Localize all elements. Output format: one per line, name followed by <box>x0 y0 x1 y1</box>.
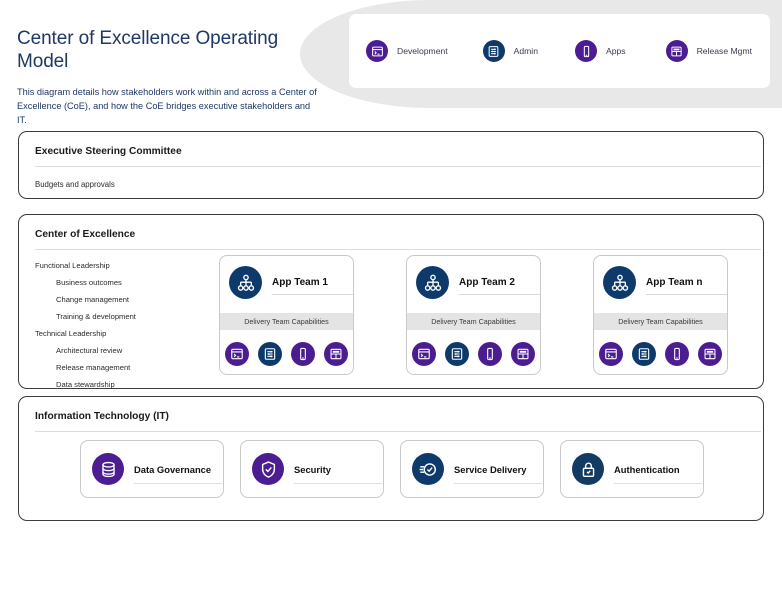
development-icon[interactable] <box>599 342 623 366</box>
admin-icon[interactable] <box>258 342 282 366</box>
development-icon[interactable] <box>225 342 249 366</box>
development-icon <box>366 40 388 62</box>
release-mgmt-icon[interactable] <box>698 342 722 366</box>
it-card-data-governance[interactable]: Data Governance <box>80 440 224 498</box>
capability-icon-row <box>594 330 727 366</box>
development-icon[interactable] <box>412 342 436 366</box>
org-chart-icon <box>229 266 262 299</box>
leadership-item: Architectural review <box>56 346 225 355</box>
section-title: Executive Steering Committee <box>19 132 763 166</box>
legend-item-development[interactable]: Development <box>366 40 448 62</box>
app-team-name: App Team 2 <box>459 277 515 288</box>
information-technology-section: Information Technology (IT) Data Governa… <box>18 396 764 521</box>
it-card-authentication[interactable]: Authentication <box>560 440 704 498</box>
it-card-service-delivery[interactable]: Service Delivery <box>400 440 544 498</box>
legend-item-admin[interactable]: Admin <box>483 40 538 62</box>
leadership-item: Business outcomes <box>56 278 225 287</box>
capabilities-band-label: Delivery Team Capabilities <box>618 317 703 326</box>
capability-icon-row <box>407 330 540 366</box>
release-mgmt-icon[interactable] <box>324 342 348 366</box>
legend-item-release-mgmt[interactable]: Release Mgmt <box>666 40 752 62</box>
leadership-group-heading: Functional Leadership <box>35 261 225 270</box>
leadership-group-heading: Technical Leadership <box>35 329 225 338</box>
capabilities-band: Delivery Team Capabilities <box>594 313 727 330</box>
apps-icon[interactable] <box>665 342 689 366</box>
admin-icon <box>483 40 505 62</box>
leadership-item: Release management <box>56 363 225 372</box>
capabilities-band-label: Delivery Team Capabilities <box>431 317 516 326</box>
legend-label: Apps <box>606 46 626 56</box>
executive-steering-committee-section: Executive Steering Committee Budgets and… <box>18 131 764 199</box>
apps-icon[interactable] <box>478 342 502 366</box>
legend-label: Release Mgmt <box>697 46 752 56</box>
leadership-item: Data stewardship <box>56 380 225 389</box>
legend-label: Admin <box>514 46 538 56</box>
it-card-label: Service Delivery <box>454 464 526 475</box>
leadership-item: Change management <box>56 295 225 304</box>
leadership-list: Functional Leadership Business outcomes … <box>35 261 225 397</box>
it-card-label: Security <box>294 464 331 475</box>
app-team-card[interactable]: App Team n Delivery Team Capabilities <box>593 255 728 375</box>
page-title: Center of Excellence Operating Model <box>17 28 317 74</box>
capabilities-band-label: Delivery Team Capabilities <box>244 317 329 326</box>
app-team-card[interactable]: App Team 2 Delivery Team Capabilities <box>406 255 541 375</box>
release-mgmt-icon <box>666 40 688 62</box>
app-team-name: App Team n <box>646 277 702 288</box>
shield-check-icon <box>252 453 284 485</box>
app-team-name: App Team 1 <box>272 277 328 288</box>
page-header: Center of Excellence Operating Model Thi… <box>0 0 782 108</box>
legend-label: Development <box>397 46 448 56</box>
release-mgmt-icon[interactable] <box>511 342 535 366</box>
leadership-item: Training & development <box>56 312 225 321</box>
capabilities-band: Delivery Team Capabilities <box>220 313 353 330</box>
executive-body-text: Budgets and approvals <box>19 167 763 189</box>
header-text-block: Center of Excellence Operating Model Thi… <box>17 28 317 127</box>
it-card-security[interactable]: Security <box>240 440 384 498</box>
it-card-label: Data Governance <box>134 464 211 475</box>
page-subtitle: This diagram details how stakeholders wo… <box>17 85 317 128</box>
app-team-card[interactable]: App Team 1 Delivery Team Capabilities <box>219 255 354 375</box>
apps-icon <box>575 40 597 62</box>
section-title: Center of Excellence <box>19 215 763 249</box>
org-chart-icon <box>603 266 636 299</box>
admin-icon[interactable] <box>632 342 656 366</box>
legend-card: Development Admin <box>349 14 770 88</box>
apps-icon[interactable] <box>291 342 315 366</box>
it-card-label: Authentication <box>614 464 680 475</box>
admin-icon[interactable] <box>445 342 469 366</box>
org-chart-icon <box>416 266 449 299</box>
database-icon <box>92 453 124 485</box>
legend-item-apps[interactable]: Apps <box>575 40 626 62</box>
capability-icon-row <box>220 330 353 366</box>
center-of-excellence-section: Center of Excellence Functional Leadersh… <box>18 214 764 389</box>
section-title: Information Technology (IT) <box>19 397 763 431</box>
lock-icon <box>572 453 604 485</box>
speed-check-icon <box>412 453 444 485</box>
capabilities-band: Delivery Team Capabilities <box>407 313 540 330</box>
